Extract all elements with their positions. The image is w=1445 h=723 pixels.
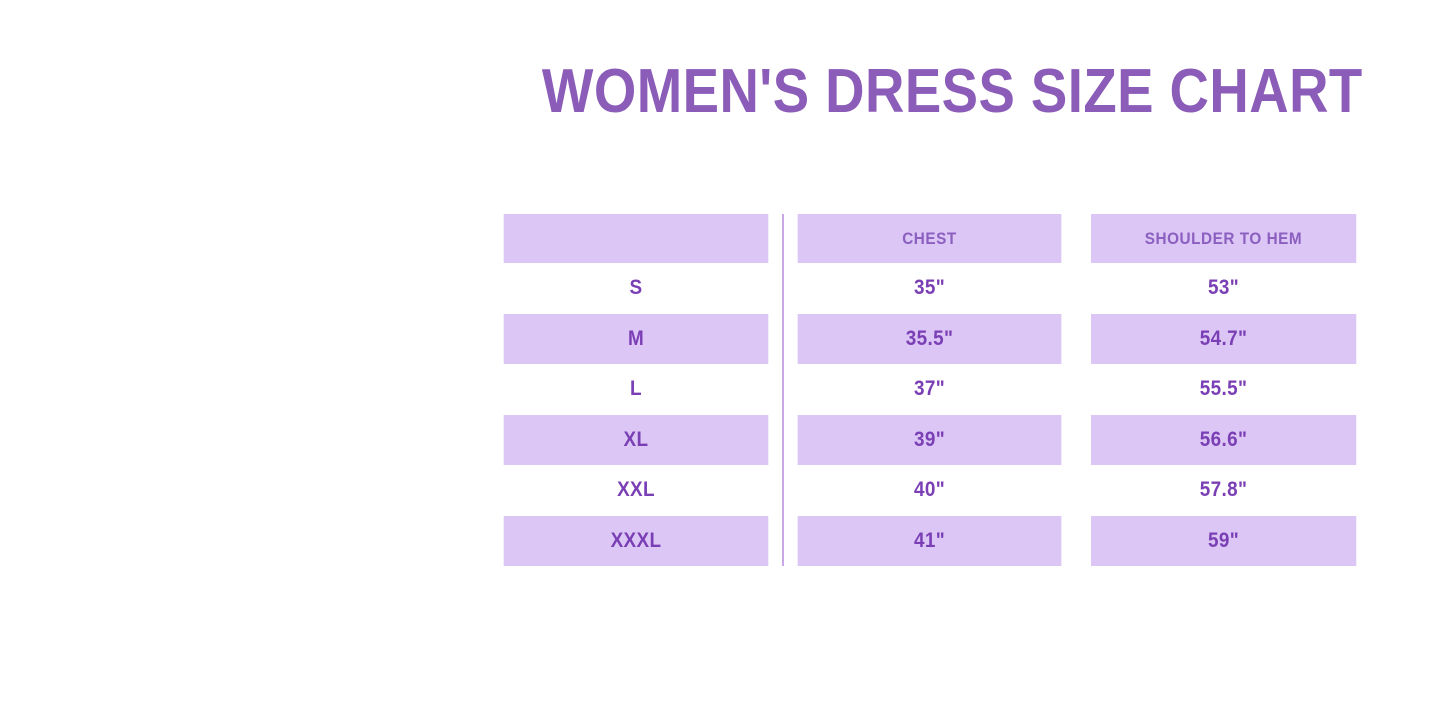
column-header-shoulder-to-hem: SHOULDER TO HEM — [1091, 214, 1357, 263]
cell-size: S — [504, 263, 769, 314]
cell-size: XXL — [504, 465, 769, 516]
table-row: XXXL 41" 59" — [489, 516, 1371, 567]
table-row: XL 39" 56.6" — [489, 415, 1371, 466]
cell-size: L — [504, 364, 769, 415]
cell-chest: 40" — [798, 465, 1062, 516]
cell-shoulder-to-hem: 54.7" — [1091, 314, 1357, 365]
table-body: S 35" 53" M 35.5" 54.7" L 37" 55.5" XL 3… — [489, 263, 1371, 566]
column-header-size — [504, 214, 769, 263]
cell-shoulder-to-hem: 57.8" — [1091, 465, 1357, 516]
column-header-chest: CHEST — [798, 214, 1062, 263]
size-chart-table: CHEST SHOULDER TO HEM S 35" 53" M 35.5" … — [489, 214, 1371, 566]
table-header: CHEST SHOULDER TO HEM — [489, 214, 1371, 263]
cell-shoulder-to-hem: 59" — [1091, 516, 1357, 567]
cell-size: M — [504, 314, 769, 365]
cell-chest: 35.5" — [798, 314, 1062, 365]
table-row: L 37" 55.5" — [489, 364, 1371, 415]
cell-chest: 41" — [798, 516, 1062, 567]
page-title: WOMEN'S DRESS SIZE CHART — [542, 57, 1318, 127]
cell-shoulder-to-hem: 56.6" — [1091, 415, 1357, 466]
cell-chest: 39" — [798, 415, 1062, 466]
cell-shoulder-to-hem: 53" — [1091, 263, 1357, 314]
size-chart-table-container: CHEST SHOULDER TO HEM S 35" 53" M 35.5" … — [489, 214, 1371, 566]
table-row: S 35" 53" — [489, 263, 1371, 314]
table-row: XXL 40" 57.8" — [489, 465, 1371, 516]
cell-shoulder-to-hem: 55.5" — [1091, 364, 1357, 415]
table-row: M 35.5" 54.7" — [489, 314, 1371, 365]
cell-size: XXXL — [504, 516, 769, 567]
cell-chest: 37" — [798, 364, 1062, 415]
table-header-row: CHEST SHOULDER TO HEM — [489, 214, 1371, 263]
cell-chest: 35" — [798, 263, 1062, 314]
cell-size: XL — [504, 415, 769, 466]
